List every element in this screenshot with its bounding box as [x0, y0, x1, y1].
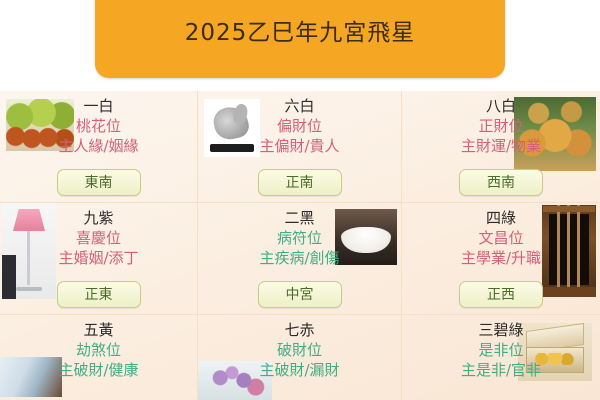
grid-cell-southeast[interactable]: 一白 桃花位 主人緣/姻緣 東南 — [0, 91, 198, 203]
star-description: 主偏財/貴人 — [198, 137, 401, 157]
cell-text-block: 八白 正財位 主財運/物業 — [402, 97, 600, 156]
cell-text-block: 三碧綠 是非位 主是非/官非 — [402, 321, 600, 380]
grid-cell-center[interactable]: 二黑 病符位 主疾病/創傷 中宮 — [198, 203, 402, 315]
banner-area: 2025乙巳年九宮飛星 — [0, 0, 600, 92]
cell-text-block: 四綠 文昌位 主學業/升職 — [402, 209, 600, 268]
direction-tag-wrap: 東南 — [0, 169, 197, 196]
star-description: 主疾病/創傷 — [198, 249, 401, 269]
star-description: 主人緣/姻緣 — [0, 137, 197, 157]
direction-tag-wrap: 中宮 — [198, 281, 401, 308]
star-position: 正財位 — [402, 117, 600, 137]
direction-tag[interactable]: 正南 — [258, 169, 342, 196]
star-number: 三碧綠 — [402, 321, 600, 341]
grid-cell-south[interactable]: 六白 偏財位 主偏財/貴人 正南 — [198, 91, 402, 203]
grid-cell-north[interactable]: 七赤 破財位 主破財/漏財 — [198, 315, 402, 400]
star-description: 主財運/物業 — [402, 137, 600, 157]
star-description: 主是非/官非 — [402, 361, 600, 381]
star-description: 主學業/升職 — [402, 249, 600, 269]
nine-palace-grid: 一白 桃花位 主人緣/姻緣 東南 六白 偏財位 主偏財/貴人 正南 — [0, 91, 600, 400]
cell-text-block: 七赤 破財位 主破財/漏財 — [198, 321, 401, 380]
direction-tag-wrap: 正西 — [402, 281, 600, 308]
direction-tag-wrap: 正南 — [198, 169, 401, 196]
cell-text-block: 五黃 劫煞位 主破財/健康 — [0, 321, 197, 380]
grid-cell-southwest[interactable]: 八白 正財位 主財運/物業 西南 — [402, 91, 600, 203]
star-number: 九紫 — [0, 209, 197, 229]
direction-tag[interactable]: 正東 — [57, 281, 141, 308]
star-description: 主婚姻/添丁 — [0, 249, 197, 269]
direction-tag[interactable]: 正西 — [459, 281, 543, 308]
star-position: 是非位 — [402, 341, 600, 361]
cell-text-block: 二黑 病符位 主疾病/創傷 — [198, 209, 401, 268]
title-banner: 2025乙巳年九宮飛星 — [95, 0, 505, 78]
star-position: 桃花位 — [0, 117, 197, 137]
star-number: 二黑 — [198, 209, 401, 229]
direction-tag[interactable]: 中宮 — [258, 281, 342, 308]
grid-cell-west[interactable]: 四綠 文昌位 主學業/升職 正西 — [402, 203, 600, 315]
grid-cell-northeast[interactable]: 五黃 劫煞位 主破財/健康 — [0, 315, 198, 400]
star-position: 破財位 — [198, 341, 401, 361]
page-title: 2025乙巳年九宮飛星 — [185, 13, 416, 51]
star-number: 七赤 — [198, 321, 401, 341]
cell-text-block: 九紫 喜慶位 主婚姻/添丁 — [0, 209, 197, 268]
direction-tag[interactable]: 西南 — [459, 169, 543, 196]
cell-text-block: 六白 偏財位 主偏財/貴人 — [198, 97, 401, 156]
star-position: 病符位 — [198, 229, 401, 249]
star-position: 劫煞位 — [0, 341, 197, 361]
star-description: 主破財/漏財 — [198, 361, 401, 381]
direction-tag-wrap: 正東 — [0, 281, 197, 308]
star-number: 五黃 — [0, 321, 197, 341]
star-number: 八白 — [402, 97, 600, 117]
star-number: 六白 — [198, 97, 401, 117]
direction-tag-wrap: 西南 — [402, 169, 600, 196]
star-number: 一白 — [0, 97, 197, 117]
star-number: 四綠 — [402, 209, 600, 229]
cell-text-block: 一白 桃花位 主人緣/姻緣 — [0, 97, 197, 156]
star-position: 偏財位 — [198, 117, 401, 137]
star-description: 主破財/健康 — [0, 361, 197, 381]
direction-tag[interactable]: 東南 — [57, 169, 141, 196]
grid-cell-east[interactable]: 九紫 喜慶位 主婚姻/添丁 正東 — [0, 203, 198, 315]
star-position: 文昌位 — [402, 229, 600, 249]
grid-cell-northwest[interactable]: 三碧綠 是非位 主是非/官非 — [402, 315, 600, 400]
flying-star-chart-page: 2025乙巳年九宮飛星 一白 桃花位 主人緣/姻緣 東南 — [0, 0, 600, 400]
star-position: 喜慶位 — [0, 229, 197, 249]
